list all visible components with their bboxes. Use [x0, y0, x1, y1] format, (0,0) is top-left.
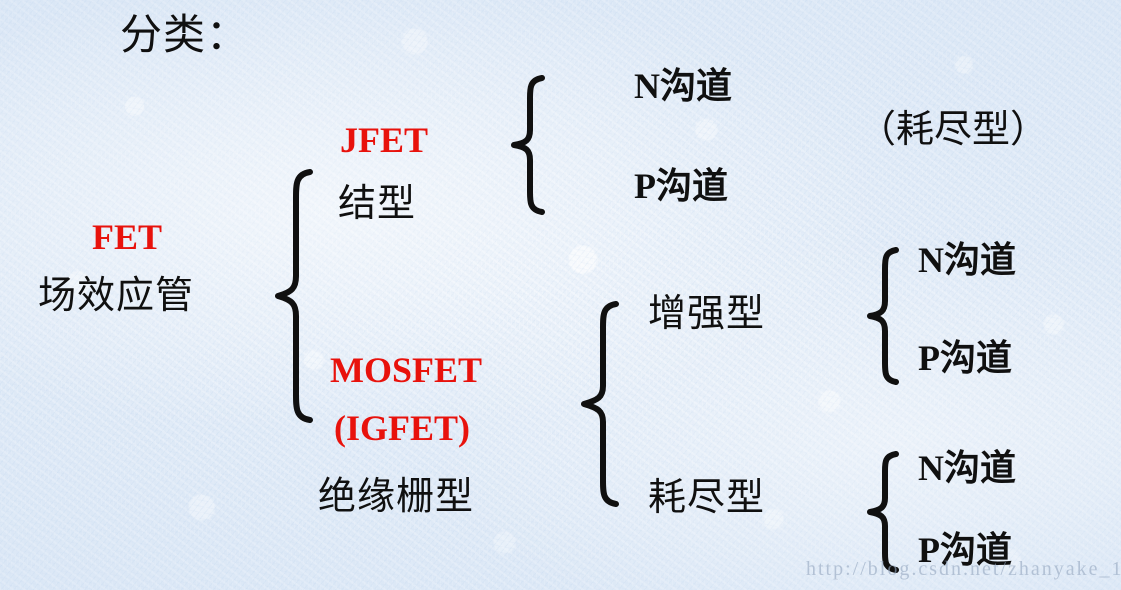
jfet-channel-n: N沟道: [634, 68, 732, 104]
mosfet-depletion-label: 耗尽型: [648, 478, 765, 516]
mosfet-enhancement-label: 增强型: [648, 294, 765, 332]
branch-jfet-chinese: 结型: [338, 184, 416, 222]
branch-mosfet-abbr: MOSFET: [330, 352, 482, 388]
branch-jfet-abbr: JFET: [340, 122, 428, 158]
enhancement-channel-p: P沟道: [918, 340, 1012, 376]
branch-mosfet-chinese: 绝缘栅型: [318, 477, 474, 515]
brace-jfet-split: [508, 74, 548, 216]
brace-mosfet-split: [578, 300, 622, 508]
jfet-depletion-note: （耗尽型）: [858, 110, 1048, 148]
watermark-url: http://blog.csdn.net/zhanyake_1: [806, 558, 1121, 581]
enhancement-channel-n: N沟道: [918, 242, 1016, 278]
brace-root-split: [272, 168, 316, 424]
root-label-abbr: FET: [92, 219, 162, 255]
brace-enhancement-split: [864, 246, 902, 386]
root-label-chinese: 场效应管: [38, 276, 194, 314]
depletion-channel-n: N沟道: [918, 450, 1016, 486]
branch-mosfet-abbr-alt: (IGFET): [334, 410, 470, 446]
page-title: 分类：: [120, 14, 249, 56]
brace-depletion-split: [864, 450, 902, 574]
slide-canvas: 分类： FET 场效应管 JFET 结型 N沟道 P沟道 （耗尽型） MOSFE…: [0, 0, 1121, 590]
jfet-channel-p: P沟道: [634, 168, 728, 204]
